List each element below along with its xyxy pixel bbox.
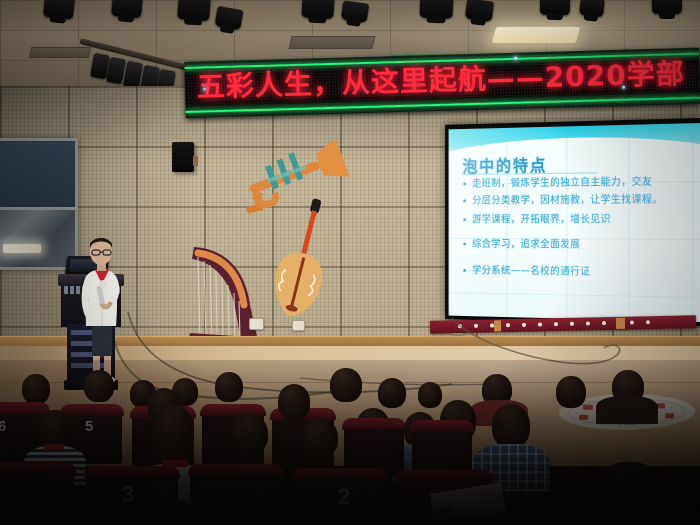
- projection-screen: 泡中的特点 走班制，锻炼学生的独立自主能力，交友 分层分类教学，因材施教，让学生…: [445, 118, 700, 326]
- stage-light: [301, 0, 334, 19]
- stage-light: [177, 0, 211, 21]
- stage-light: [111, 0, 143, 18]
- audience-shadow-overlay: [0, 360, 700, 525]
- slide-bullet: 游学课程，开拓眼界，增长见识: [462, 213, 696, 226]
- stage-light: [652, 0, 682, 14]
- led-indicator-dot: [514, 57, 517, 60]
- stage-light: [540, 0, 570, 15]
- stage-light: [420, 0, 454, 19]
- stage-light: [341, 0, 369, 22]
- window-pane-upper: [0, 141, 75, 207]
- stage-light: [465, 0, 494, 22]
- ceiling-light-fixture: [492, 27, 581, 43]
- stage-light: [43, 0, 75, 20]
- ceiling-vent: [29, 47, 91, 58]
- stage-light: [579, 0, 605, 17]
- slide-bullet: 分层分类教学，因材施教，让学生找课程。: [462, 193, 696, 207]
- window: [0, 138, 78, 270]
- stage-light: [214, 6, 243, 30]
- led-indicator-dot: [622, 86, 625, 89]
- audience-area: 6 5: [0, 360, 700, 525]
- slide-surface: 泡中的特点 走班制，锻炼学生的独立自主能力，交友 分层分类教学，因材施教，让学生…: [449, 123, 700, 322]
- slide-bullet-list: 走班制，锻炼学生的独立自主能力，交友 分层分类教学，因材施教，让学生找课程。 游…: [462, 175, 696, 280]
- auditorium-photo: 泡中的特点 走班制，锻炼学生的独立自主能力，交友 分层分类教学，因材施教，让学生…: [0, 0, 700, 525]
- led-indicator-dot: [203, 87, 206, 90]
- wall-speaker: [172, 142, 194, 172]
- window-pane-lower: [0, 210, 75, 267]
- slide-bullet: 走班制，锻炼学生的独立自主能力，交友: [462, 175, 696, 190]
- ceiling-vent: [288, 36, 375, 49]
- slide-bullet: 综合学习，追求全面发展: [462, 238, 696, 252]
